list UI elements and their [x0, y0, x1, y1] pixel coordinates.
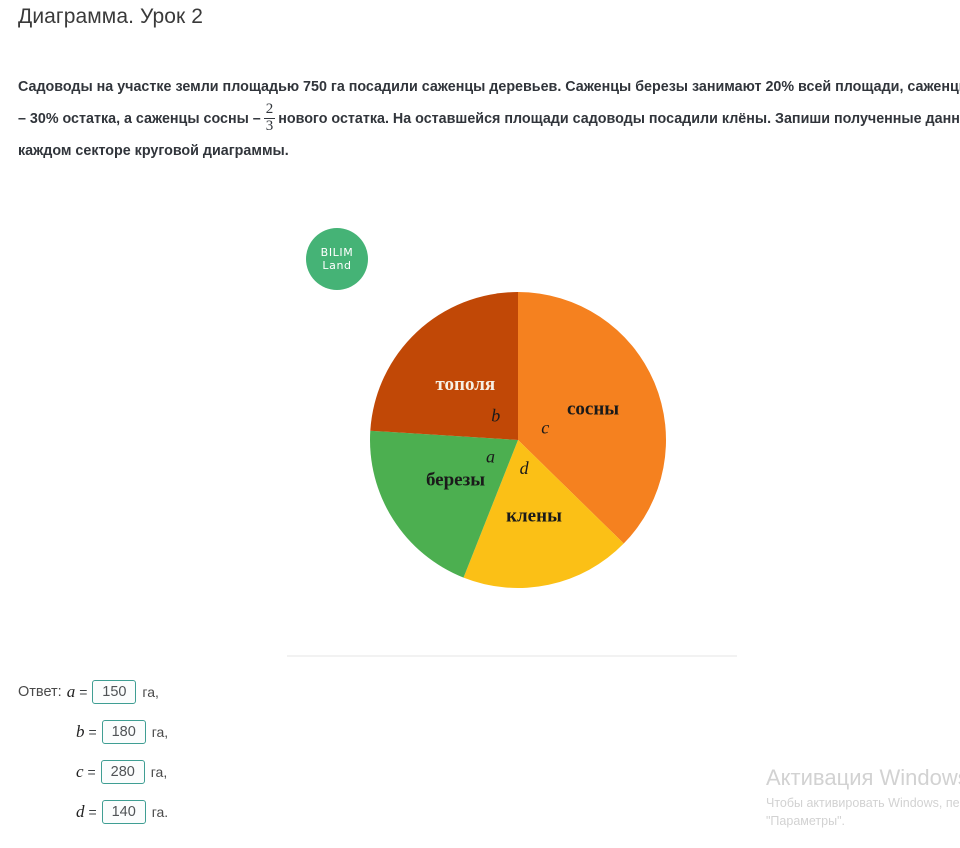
answer-variable-d: d [76, 802, 85, 822]
answer-input-a[interactable]: 150 [92, 680, 136, 704]
answer-input-d[interactable]: 140 [102, 800, 146, 824]
answer-row: b = 180 га, [18, 712, 168, 752]
pie-variable-c: c [541, 418, 549, 438]
pie-slice-label-сосны: сосны [567, 398, 619, 419]
pie-chart: сосныкленыберезытополя cdab [370, 292, 667, 617]
answer-input-b[interactable]: 180 [102, 720, 146, 744]
pie-slice-label-клены: клены [506, 505, 562, 526]
pie-chart-svg: сосныкленыберезытополя cdab [370, 292, 667, 617]
task-text-part-3: нового остатка. На [278, 111, 411, 127]
logo-line-2: Land [322, 259, 351, 272]
answer-equals-d: = [89, 804, 97, 820]
answer-unit-c: га, [151, 764, 167, 780]
answer-unit-a: га, [142, 684, 158, 700]
fraction-two-thirds: 23 [264, 102, 276, 135]
answer-equals-c: = [88, 764, 96, 780]
task-text-part-1: Садоводы на участке земли площадью 750 г… [18, 79, 761, 95]
windows-activation-watermark: Активация Windows Чтобы активировать Win… [766, 765, 960, 830]
page-title: Диаграмма. Урок 2 [18, 5, 203, 29]
logo-line-1: BILIM [321, 246, 354, 259]
windows-activation-line-1: Чтобы активировать Windows, перейдите в … [766, 794, 960, 812]
answer-variable-b: b [76, 722, 85, 742]
pie-variable-d: d [520, 458, 530, 478]
answer-row: Ответ: a = 150 га, [18, 672, 168, 712]
answer-variable-a: a [67, 682, 76, 702]
windows-activation-title: Активация Windows [766, 765, 960, 791]
answer-row: c = 280 га, [18, 752, 168, 792]
task-statement: Садоводы на участке земли площадью 750 г… [18, 72, 960, 167]
answer-unit-d: га. [152, 804, 168, 820]
fraction-denominator: 3 [264, 118, 276, 135]
answer-unit-b: га, [152, 724, 168, 740]
answer-equals-a: = [79, 684, 87, 700]
answer-input-c[interactable]: 280 [101, 760, 145, 784]
answer-equals-b: = [89, 724, 97, 740]
windows-activation-line-2: "Параметры". [766, 812, 960, 830]
pie-slices [370, 292, 666, 588]
answer-prefix-label: Ответ: [18, 684, 62, 700]
answer-variable-c: c [76, 762, 84, 782]
pie-slice-label-березы: березы [426, 470, 485, 491]
pie-variable-a: a [486, 446, 495, 466]
pie-slice-label-тополя: тополя [435, 374, 495, 395]
answer-row: d = 140 га. [18, 792, 168, 832]
fraction-numerator: 2 [264, 102, 276, 118]
content-divider [287, 655, 737, 657]
pie-variable-b: b [491, 405, 500, 425]
answer-block: Ответ: a = 150 га, b = 180 га, c = 280 г… [18, 672, 168, 832]
bilim-land-logo: BILIM Land [306, 228, 368, 290]
